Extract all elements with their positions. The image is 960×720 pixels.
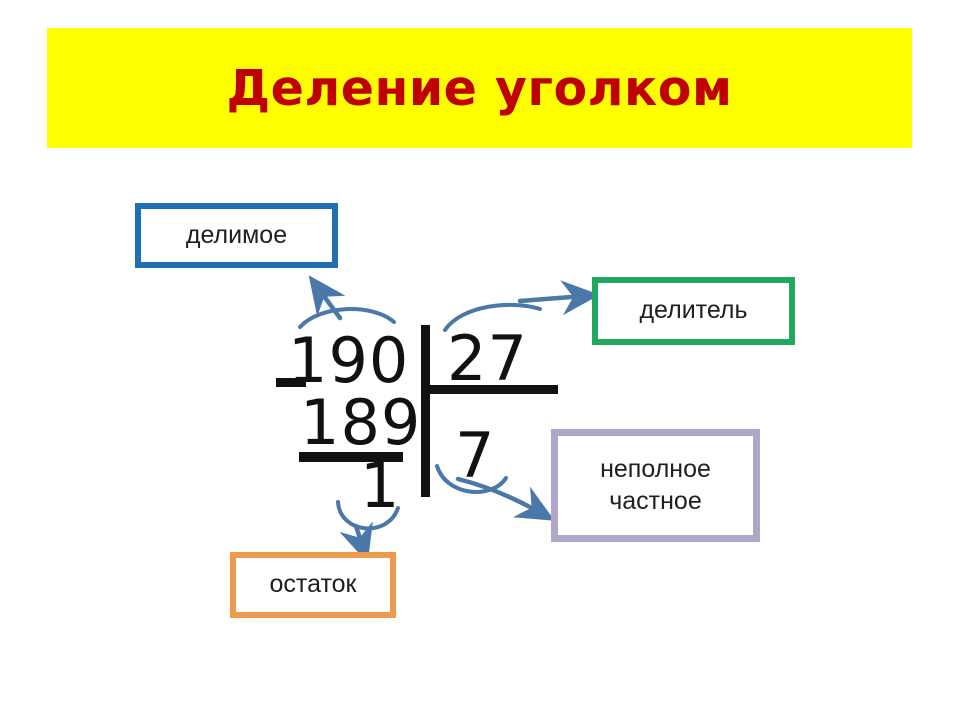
label-divisor-text: делитель	[639, 295, 747, 326]
remainder-number: 1	[360, 455, 400, 517]
label-quotient-line2: частное	[609, 486, 702, 517]
slide-canvas: Деление уголком 190 189 27 7 1	[0, 0, 960, 720]
subtraction-line	[299, 452, 403, 462]
divisor-number: 27	[447, 328, 528, 390]
quotient-number: 7	[455, 425, 495, 487]
division-vertical-bar	[421, 325, 430, 497]
divisor-underline	[424, 385, 558, 394]
subtrahend-number: 189	[300, 392, 421, 454]
arrow-remainder-icon	[338, 502, 398, 548]
label-box-dividend: делимое	[135, 203, 338, 268]
label-quotient-line1: неполное	[600, 454, 711, 485]
dividend-number: 190	[288, 330, 409, 392]
arrow-divisor-icon	[445, 296, 584, 330]
page-title: Деление уголком	[226, 60, 732, 117]
label-dividend-text: делимое	[186, 220, 287, 251]
arrow-dividend-icon	[300, 288, 394, 327]
label-box-divisor: делитель	[592, 277, 795, 345]
label-box-quotient: неполное частное	[551, 429, 760, 542]
arrow-quotient-icon	[437, 466, 541, 513]
label-remainder-text: остаток	[270, 569, 357, 600]
title-banner: Деление уголком	[47, 28, 912, 148]
minus-sign-icon	[276, 378, 306, 387]
label-box-remainder: остаток	[230, 552, 396, 618]
